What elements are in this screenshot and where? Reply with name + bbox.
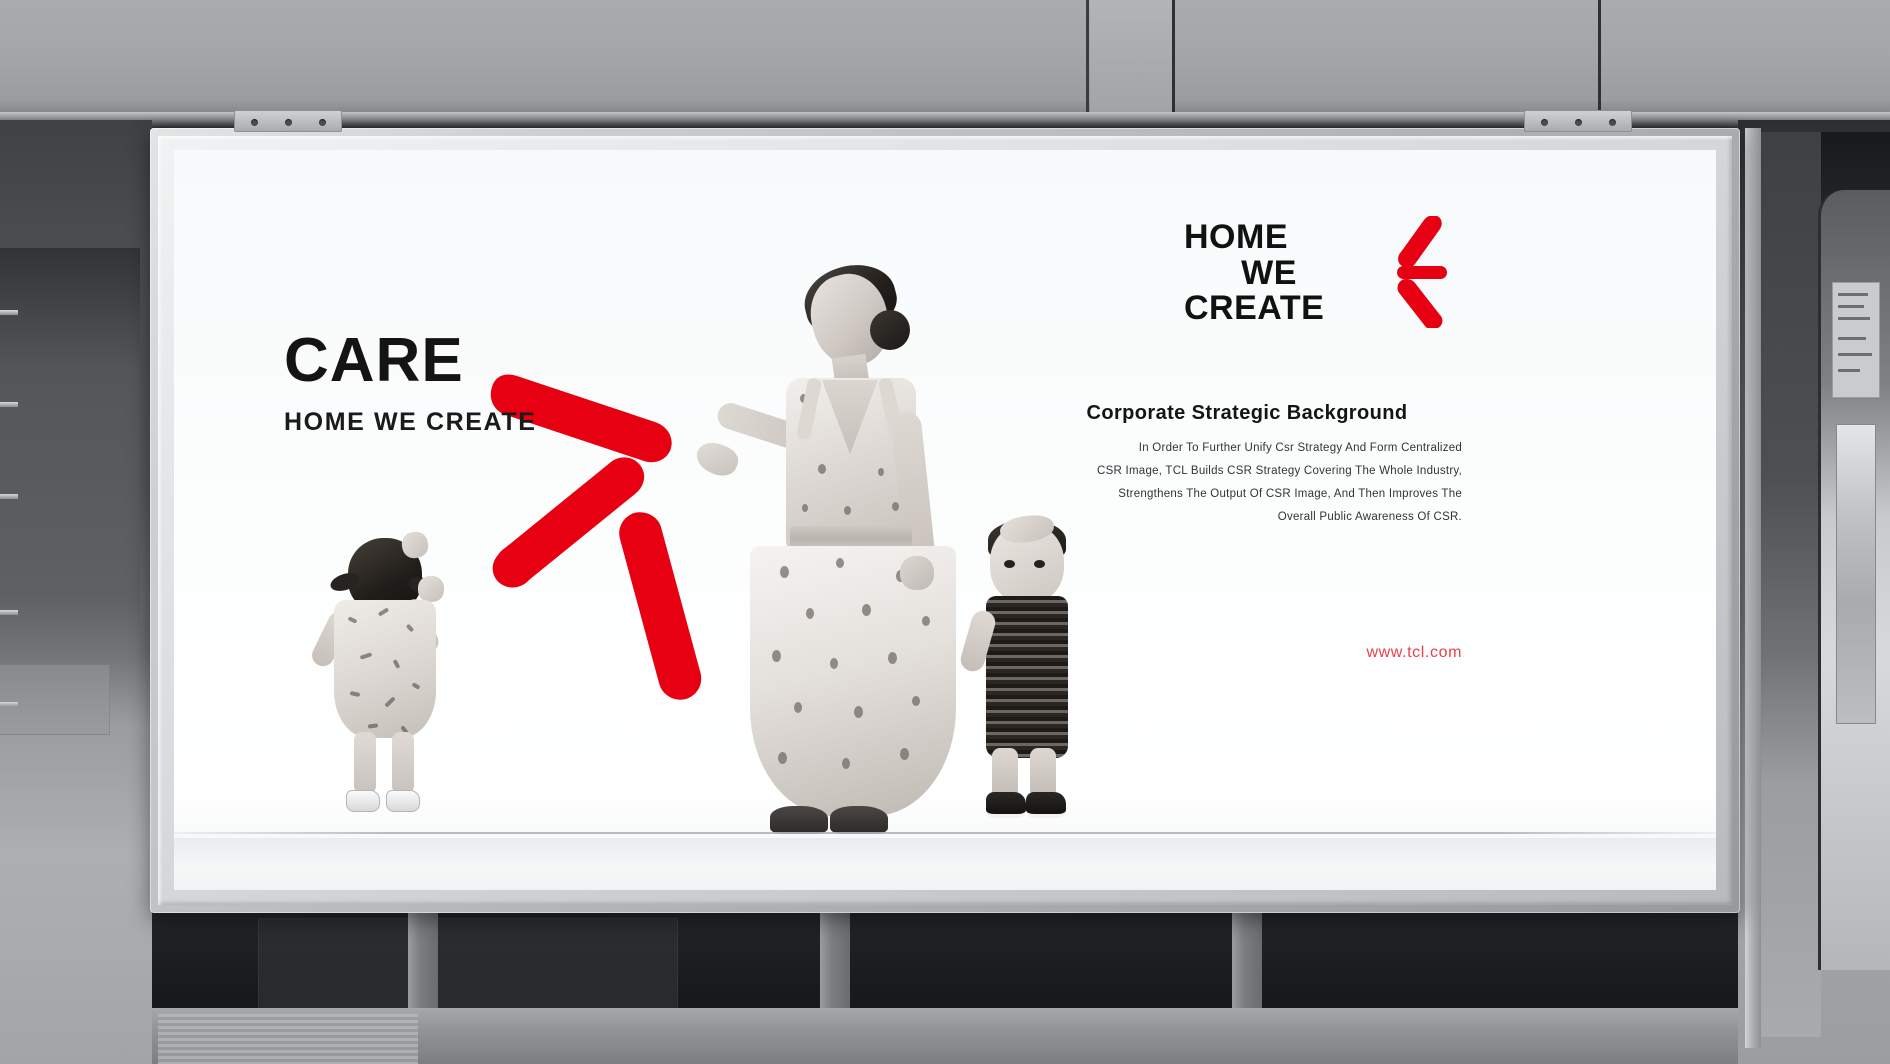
ceiling-seam (1172, 0, 1175, 122)
doorway-frame (1745, 128, 1761, 1048)
headline-block: CARE HOME WE CREATE (284, 330, 537, 437)
boy-leg (992, 748, 1018, 798)
poster-canvas[interactable]: CARE HOME WE CREATE HOME WE CREATE (174, 150, 1716, 890)
floor-reflection (174, 838, 1716, 890)
wall-rail-group (0, 310, 18, 790)
platform-inset-panel (258, 918, 678, 1010)
boy-eye (1004, 560, 1015, 568)
photo-subject-toddler-boy (964, 524, 1104, 834)
wall-placard (1832, 282, 1880, 398)
boy-striped-romper (986, 596, 1068, 758)
photo-subject-toddler-girl (314, 534, 464, 834)
station-wall-left (0, 120, 152, 1064)
copy-line: In Order To Further Unify Csr Strategy A… (1032, 437, 1462, 460)
copy-title: Corporate Strategic Background (1032, 402, 1462, 425)
logo-line-create: CREATE (1184, 291, 1354, 327)
ceiling-seam (1086, 0, 1089, 122)
brand-logo[interactable]: HOME WE CREATE (1184, 220, 1354, 327)
girl-dress-pattern (334, 600, 436, 738)
girl-dress (334, 600, 436, 738)
billboard[interactable]: CARE HOME WE CREATE HOME WE CREATE (150, 128, 1740, 913)
doorway-recess (1761, 132, 1821, 1037)
website-url[interactable]: www.tcl.com (1032, 644, 1462, 662)
station-ceiling (0, 0, 1890, 128)
ceiling-panel (1090, 0, 1174, 122)
logo-dashes-icon (1339, 216, 1449, 328)
wall-shadow-panel (0, 248, 140, 658)
copy-block: Corporate Strategic Background In Order … (1032, 402, 1462, 529)
copy-line: Overall Public Awareness Of CSR. (1032, 506, 1462, 529)
station-scene: CARE HOME WE CREATE HOME WE CREATE (0, 0, 1890, 1064)
boy-eye (1034, 560, 1045, 568)
girl-leg (392, 732, 414, 794)
page-title: CARE (284, 330, 537, 392)
boy-leg (1030, 748, 1056, 798)
mother-shoe (770, 806, 828, 834)
copy-body: In Order To Further Unify Csr Strategy A… (1032, 437, 1462, 529)
logo-line-home: HOME (1184, 220, 1354, 256)
platform-base-ridges (158, 1014, 418, 1064)
mother-hand (900, 556, 934, 590)
boy-sneaker (986, 792, 1026, 818)
girl-hand (418, 576, 444, 602)
copy-line: CSR Image, TCL Builds CSR Strategy Cover… (1032, 460, 1462, 483)
mounting-bracket (234, 110, 342, 132)
mounting-bracket (1524, 110, 1632, 132)
mother-hair-bun (870, 310, 910, 350)
boy-sneaker (1026, 792, 1066, 818)
copy-line: Strengthens The Output Of CSR Image, And… (1032, 483, 1462, 506)
burst-stroke-lower (619, 512, 701, 699)
girl-leg (354, 732, 376, 794)
ceiling-seam (1598, 0, 1601, 122)
headline-subtitle: HOME WE CREATE (284, 408, 537, 437)
girl-sandal (386, 790, 420, 812)
burst-stroke-middle (493, 457, 644, 587)
girl-sandal (346, 790, 380, 812)
mother-shoe (830, 806, 888, 834)
logo-line-we: WE (1184, 256, 1354, 292)
corridor-glass-panel (1836, 424, 1876, 724)
